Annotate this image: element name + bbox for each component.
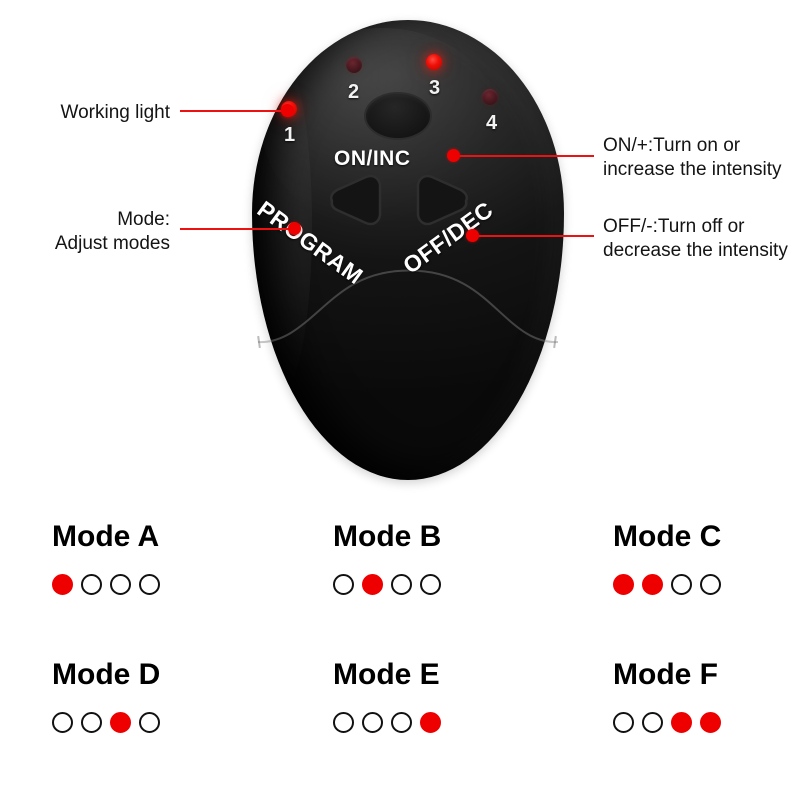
marker-off-minus <box>466 229 479 242</box>
mode-item-f: Mode F <box>613 660 800 733</box>
modes-legend: Mode A Mode B Mode C Mode D Mode E Mode … <box>0 500 800 800</box>
program-triangle-button[interactable] <box>326 173 384 227</box>
mode-dot-empty <box>52 712 73 733</box>
led-label-1: 1 <box>284 125 295 145</box>
mode-dot-empty <box>642 712 663 733</box>
device-seam-notch-left <box>257 336 261 348</box>
mode-dot-empty <box>139 574 160 595</box>
mode-dot-empty <box>81 574 102 595</box>
callout-working-light: Working light <box>10 101 170 125</box>
led-indicator-2 <box>346 57 362 73</box>
mode-dots-c <box>613 574 800 595</box>
mode-dot-empty <box>671 574 692 595</box>
mode-dot-empty <box>362 712 383 733</box>
mode-dot-empty <box>391 574 412 595</box>
callout-on-plus-line1: ON/+:Turn on or <box>603 134 800 158</box>
mode-title-a: Mode A <box>52 522 312 552</box>
mode-title-e: Mode E <box>333 660 593 690</box>
mode-dot-filled <box>642 574 663 595</box>
callout-on-plus: ON/+:Turn on or increase the intensity <box>603 134 800 182</box>
led-label-3: 3 <box>429 78 440 98</box>
leader-line-on-plus <box>452 155 594 157</box>
callout-on-plus-line2: increase the intensity <box>603 158 800 182</box>
mode-item-d: Mode D <box>52 660 312 733</box>
mode-title-d: Mode D <box>52 660 312 690</box>
mode-dots-e <box>333 712 593 733</box>
mode-dot-empty <box>81 712 102 733</box>
leader-line-mode <box>180 228 295 230</box>
mode-dot-filled <box>613 574 634 595</box>
mode-dot-empty <box>139 712 160 733</box>
leader-line-off-minus <box>472 235 594 237</box>
mode-dot-filled <box>362 574 383 595</box>
mode-dot-empty <box>420 574 441 595</box>
mode-dots-d <box>52 712 312 733</box>
callout-off-minus-line2: decrease the intensity <box>603 239 800 263</box>
mode-dot-empty <box>613 712 634 733</box>
callout-working-light-text: Working light <box>10 101 170 125</box>
led-indicator-4 <box>482 89 498 105</box>
mode-dot-filled <box>700 712 721 733</box>
led-label-2: 2 <box>348 82 359 102</box>
mode-item-e: Mode E <box>333 660 593 733</box>
mode-dot-empty <box>391 712 412 733</box>
marker-mode <box>288 222 301 235</box>
led-indicator-3 <box>426 54 442 70</box>
mode-dot-filled <box>420 712 441 733</box>
callout-mode-line1: Mode: <box>10 208 170 232</box>
mode-title-f: Mode F <box>613 660 800 690</box>
mode-dot-empty <box>333 574 354 595</box>
mode-dots-b <box>333 574 593 595</box>
callout-off-minus: OFF/-:Turn off or decrease the intensity <box>603 215 800 263</box>
mode-dot-empty <box>110 574 131 595</box>
led-label-4: 4 <box>486 113 497 133</box>
mode-dot-filled <box>110 712 131 733</box>
marker-on-plus <box>447 149 460 162</box>
mode-title-b: Mode B <box>333 522 593 552</box>
callout-mode: Mode: Adjust modes <box>10 208 170 256</box>
remote-control-device: 1 2 3 4 ON/INC PROGRAM OFF/DEC <box>252 20 564 480</box>
leader-line-working-light <box>180 110 288 112</box>
mode-item-a: Mode A <box>52 522 312 595</box>
center-button[interactable] <box>364 92 432 140</box>
mode-dot-filled <box>52 574 73 595</box>
mode-dot-filled <box>671 712 692 733</box>
mode-dots-a <box>52 574 312 595</box>
marker-working-light <box>281 104 294 117</box>
mode-item-c: Mode C <box>613 522 800 595</box>
mode-dot-empty <box>333 712 354 733</box>
mode-item-b: Mode B <box>333 522 593 595</box>
product-diagram: 1 2 3 4 ON/INC PROGRAM OFF/DEC Working l… <box>0 0 800 800</box>
mode-dot-empty <box>700 574 721 595</box>
mode-title-c: Mode C <box>613 522 800 552</box>
device-seam-notch-right <box>553 336 557 348</box>
callout-off-minus-line1: OFF/-:Turn off or <box>603 215 800 239</box>
callout-mode-line2: Adjust modes <box>10 232 170 256</box>
label-on-inc: ON/INC <box>334 148 411 169</box>
mode-dots-f <box>613 712 800 733</box>
